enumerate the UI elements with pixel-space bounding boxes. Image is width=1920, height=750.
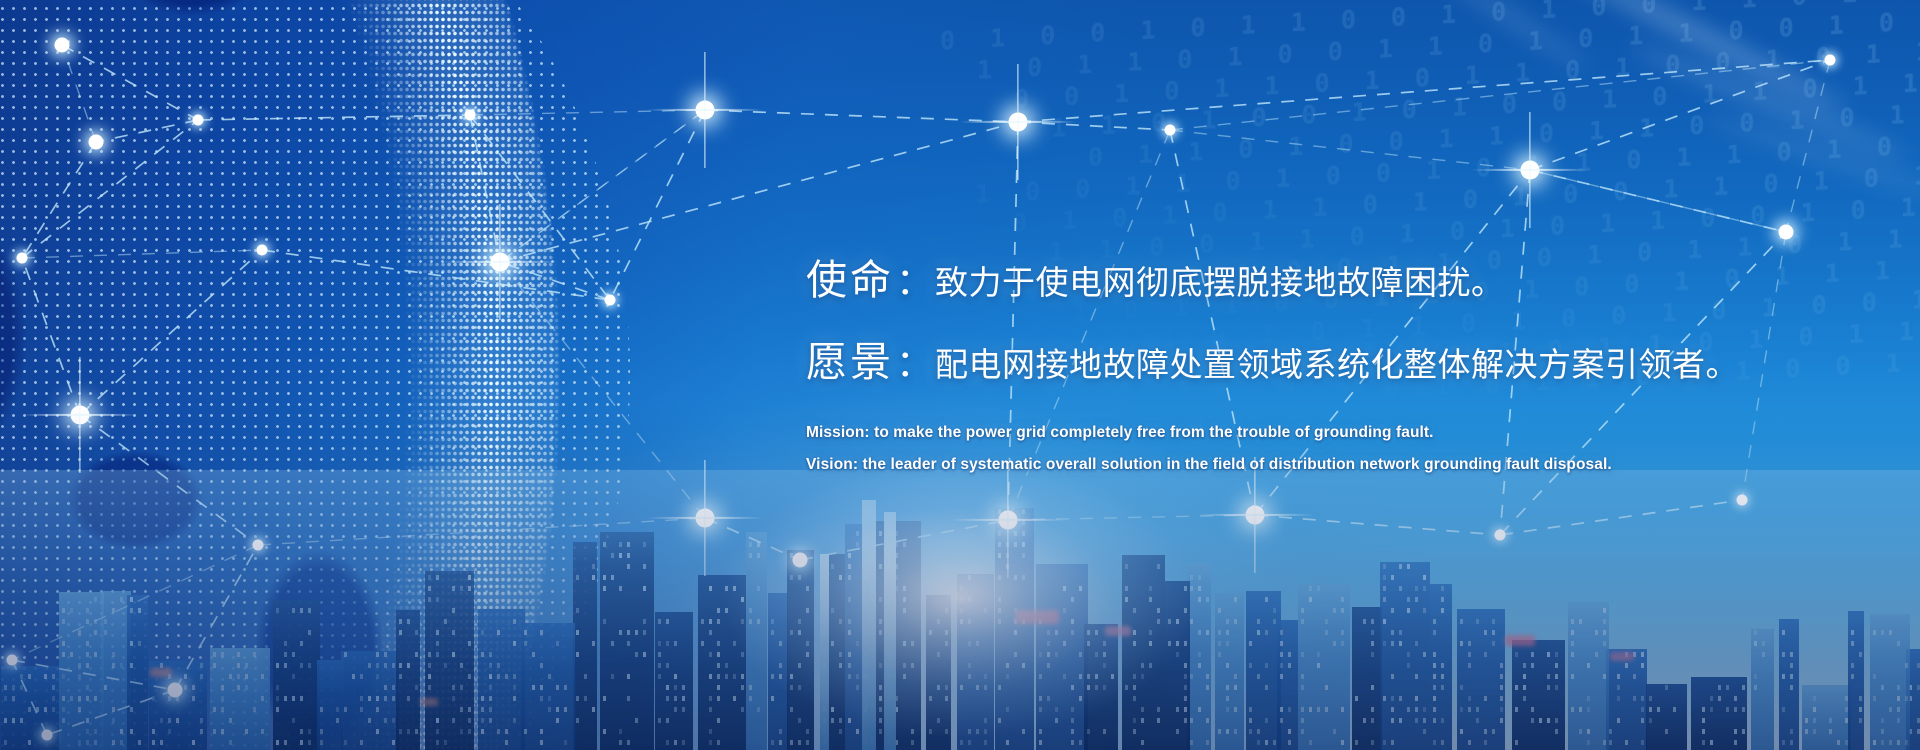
mission-english-line: Mission: to make the power grid complete…: [806, 424, 1886, 442]
hero-copy-block: 使命：致力于使电网彻底摆脱接地故障困扰。 愿景：配电网接地故障处置领域系统化整体…: [806, 246, 1886, 474]
vision-line: 愿景：配电网接地故障处置领域系统化整体解决方案引领者。: [806, 328, 1886, 388]
vision-english-line: Vision: the leader of systematic overall…: [806, 456, 1886, 474]
vision-separator: ：: [894, 343, 935, 384]
mission-text: 致力于使电网彻底摆脱接地故障困扰。: [935, 264, 1505, 301]
vision-text: 配电网接地故障处置领域系统化整体解决方案引领者。: [935, 346, 1739, 383]
vision-label: 愿景: [806, 339, 894, 385]
hero-banner: 0 1 0 0 1 0 1 1 0 0 1 0 1 0 0 1 1 0 1 0 …: [0, 0, 1920, 750]
mission-separator: ：: [894, 261, 935, 302]
mission-line: 使命：致力于使电网彻底摆脱接地故障困扰。: [806, 246, 1886, 306]
mission-label: 使命: [806, 257, 894, 303]
